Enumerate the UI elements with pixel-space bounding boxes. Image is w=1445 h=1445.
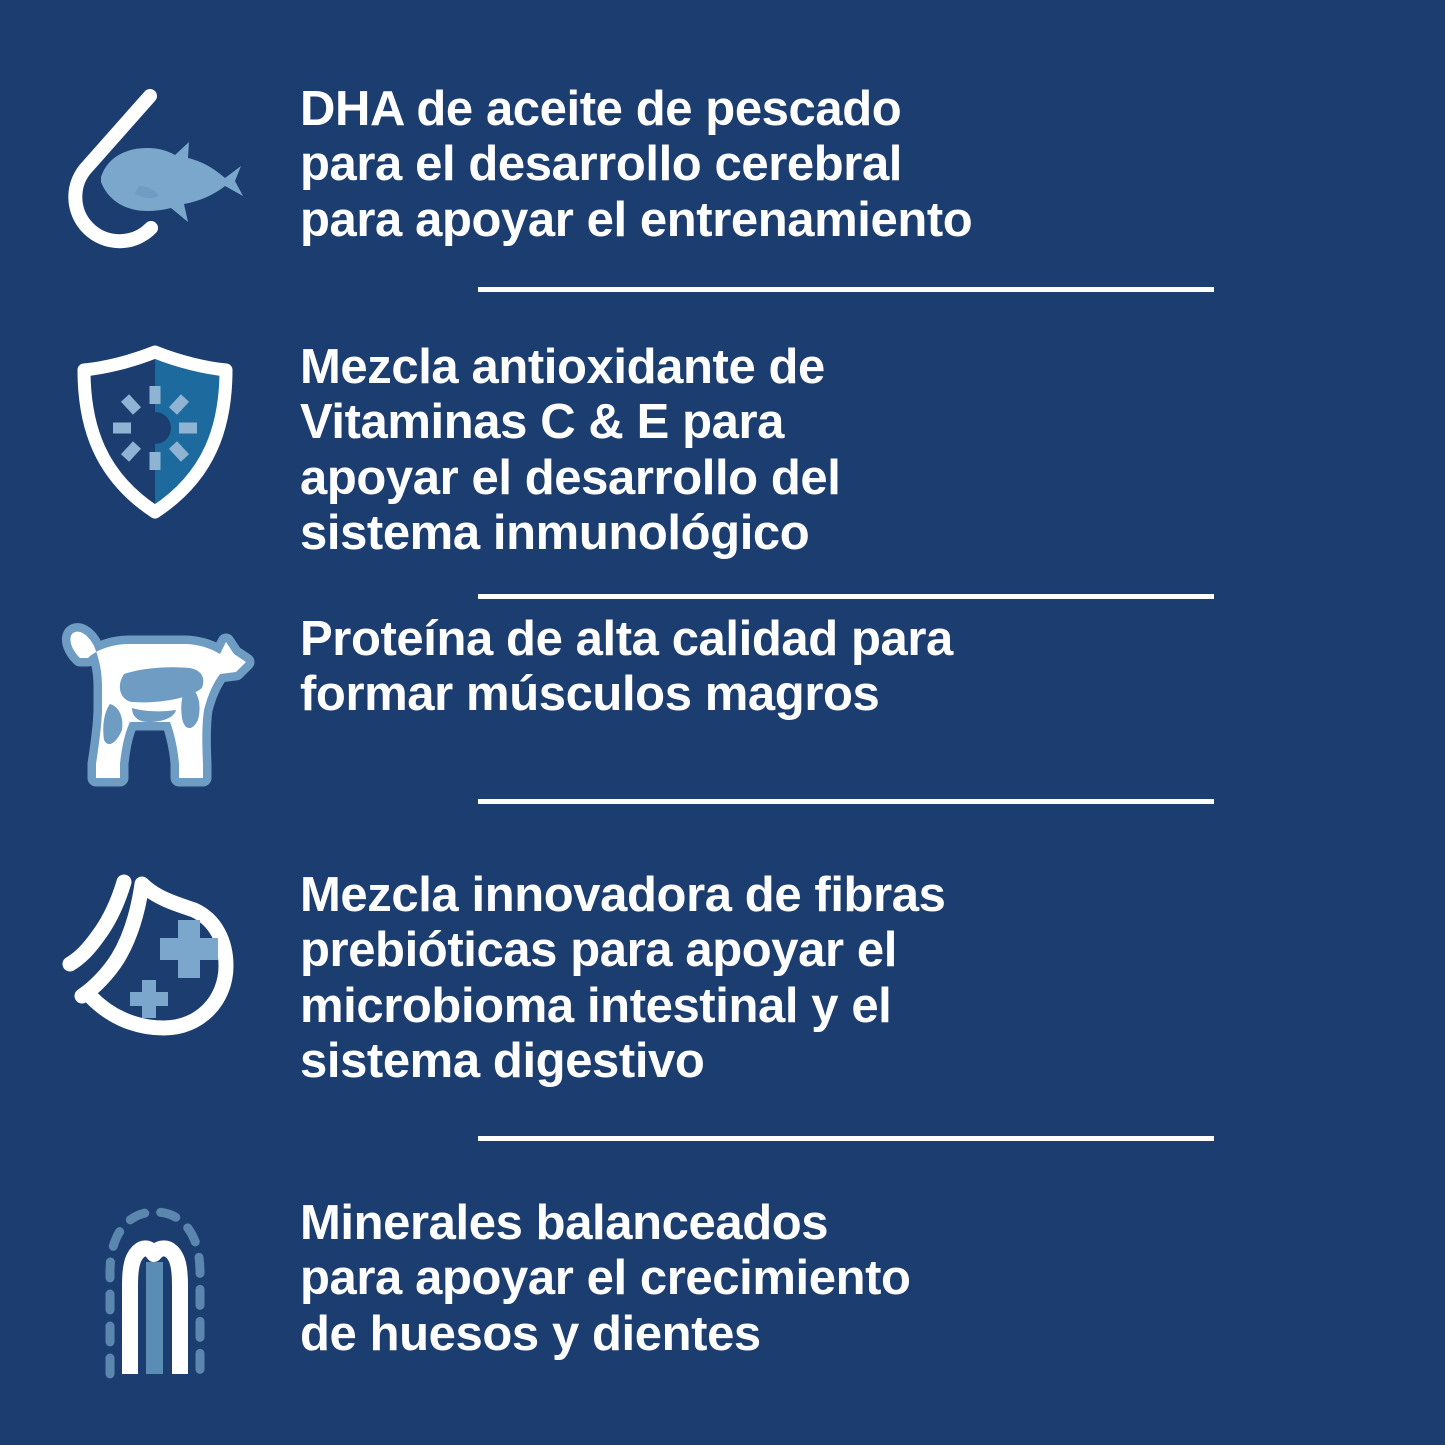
benefit-row-protein: Proteína de alta calidad para formar mús… (0, 612, 1445, 792)
text-cell-protein: Proteína de alta calidad para formar mús… (300, 612, 1445, 723)
divider-3 (478, 799, 1214, 804)
benefit-row-antioxidant: Mezcla antioxidante de Vitaminas C & E p… (0, 340, 1445, 561)
water-drop-fish-icon (55, 82, 255, 257)
icon-cell-dha (0, 82, 300, 257)
benefit-text-dha: DHA de aceite de pescado para el desarro… (300, 82, 1265, 248)
icon-cell-fiber (0, 868, 300, 1043)
bone-icon (80, 1196, 230, 1381)
benefits-panel: DHA de aceite de pescado para el desarro… (0, 0, 1445, 1445)
text-cell-antioxidant: Mezcla antioxidante de Vitaminas C & E p… (300, 340, 1445, 561)
stomach-plus-icon (60, 868, 250, 1043)
benefit-text-protein: Proteína de alta calidad para formar mús… (300, 612, 1265, 723)
divider-1 (478, 287, 1214, 292)
benefit-row-minerals: Minerales balanceados para apoyar el cre… (0, 1196, 1445, 1381)
divider-4 (478, 1136, 1214, 1141)
icon-cell-antioxidant (0, 340, 300, 525)
dog-muscle-icon (50, 612, 260, 792)
text-cell-dha: DHA de aceite de pescado para el desarro… (300, 82, 1445, 248)
divider-2 (478, 594, 1214, 599)
shield-sunburst-icon (68, 340, 243, 525)
benefit-text-minerals: Minerales balanceados para apoyar el cre… (300, 1196, 1265, 1362)
icon-cell-protein (0, 612, 300, 792)
icon-cell-minerals (0, 1196, 300, 1381)
benefit-text-antioxidant: Mezcla antioxidante de Vitaminas C & E p… (300, 340, 1265, 561)
text-cell-minerals: Minerales balanceados para apoyar el cre… (300, 1196, 1445, 1362)
benefit-text-fiber: Mezcla innovadora de fibras prebióticas … (300, 868, 1265, 1089)
text-cell-fiber: Mezcla innovadora de fibras prebióticas … (300, 868, 1445, 1089)
benefit-row-fiber: Mezcla innovadora de fibras prebióticas … (0, 868, 1445, 1089)
benefit-row-dha: DHA de aceite de pescado para el desarro… (0, 82, 1445, 257)
